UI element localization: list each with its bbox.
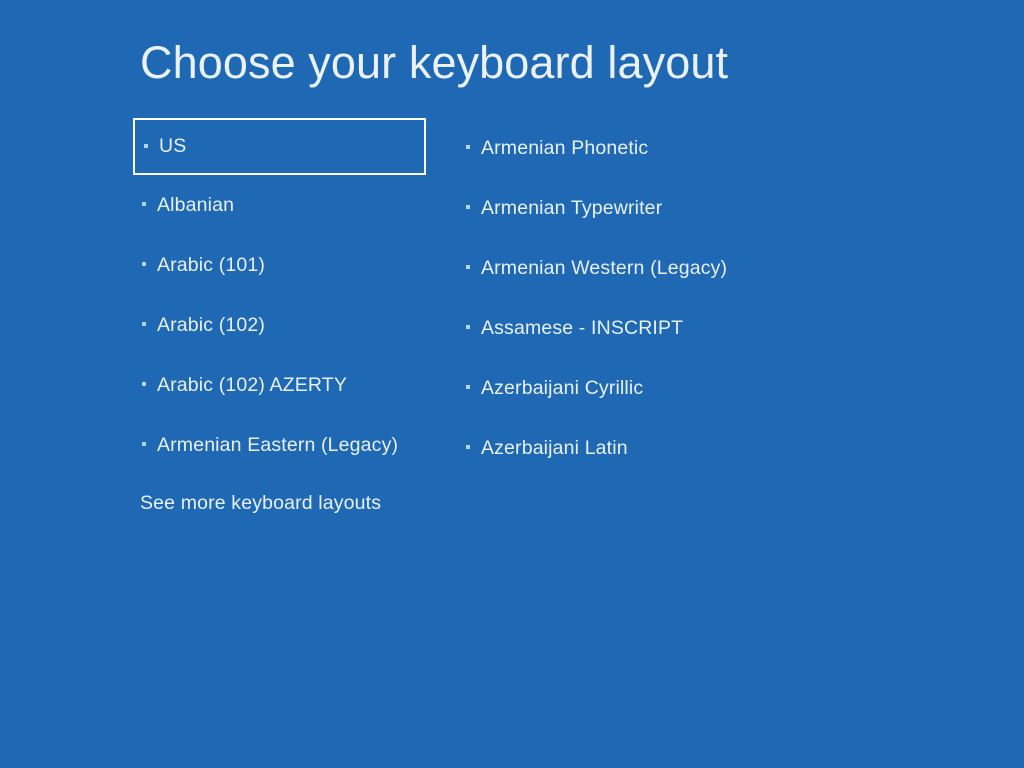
bullet-icon: [142, 202, 146, 206]
layout-option-arabic-102-azerty[interactable]: Arabic (102) AZERTY: [133, 355, 463, 415]
layout-option-albanian[interactable]: Albanian: [133, 175, 463, 235]
bullet-icon: [466, 325, 470, 329]
layout-option-azerbaijani-latin[interactable]: Azerbaijani Latin: [458, 418, 798, 478]
layout-option-label: Azerbaijani Latin: [481, 437, 628, 460]
layout-option-armenian-eastern-legacy[interactable]: Armenian Eastern (Legacy): [133, 415, 463, 475]
layout-option-azerbaijani-cyrillic[interactable]: Azerbaijani Cyrillic: [458, 358, 798, 418]
layout-option-label: Assamese - INSCRIPT: [481, 317, 683, 340]
layout-option-label: Azerbaijani Cyrillic: [481, 377, 643, 400]
layout-column-left: US Albanian Arabic (101) Arabic (102) Ar…: [133, 118, 463, 475]
layout-column-right: Armenian Phonetic Armenian Typewriter Ar…: [458, 118, 798, 478]
bullet-icon: [466, 445, 470, 449]
bullet-icon: [144, 144, 148, 148]
bullet-icon: [466, 145, 470, 149]
bullet-icon: [466, 265, 470, 269]
keyboard-layout-screen: Choose your keyboard layout US Albanian …: [0, 0, 1024, 768]
bullet-icon: [466, 385, 470, 389]
page-title: Choose your keyboard layout: [140, 37, 728, 89]
layout-option-label: Albanian: [157, 194, 234, 217]
layout-option-label: Armenian Phonetic: [481, 137, 648, 160]
bullet-icon: [142, 382, 146, 386]
bullet-icon: [142, 322, 146, 326]
layout-option-armenian-phonetic[interactable]: Armenian Phonetic: [458, 118, 798, 178]
bullet-icon: [142, 442, 146, 446]
layout-option-label: Armenian Typewriter: [481, 197, 662, 220]
layout-option-assamese-inscript[interactable]: Assamese - INSCRIPT: [458, 298, 798, 358]
layout-option-label: Arabic (101): [157, 254, 265, 277]
layout-option-arabic-101[interactable]: Arabic (101): [133, 235, 463, 295]
bullet-icon: [142, 262, 146, 266]
layout-option-label: Arabic (102) AZERTY: [157, 374, 347, 397]
layout-option-armenian-typewriter[interactable]: Armenian Typewriter: [458, 178, 798, 238]
layout-option-arabic-102[interactable]: Arabic (102): [133, 295, 463, 355]
layout-option-label: Armenian Western (Legacy): [481, 257, 727, 280]
layout-option-label: US: [159, 135, 186, 158]
bullet-icon: [466, 205, 470, 209]
layout-option-label: Arabic (102): [157, 314, 265, 337]
layout-option-label: Armenian Eastern (Legacy): [157, 434, 398, 457]
layout-option-us[interactable]: US: [133, 118, 426, 175]
layout-option-armenian-western-legacy[interactable]: Armenian Western (Legacy): [458, 238, 798, 298]
see-more-keyboard-layouts-link[interactable]: See more keyboard layouts: [140, 492, 381, 515]
